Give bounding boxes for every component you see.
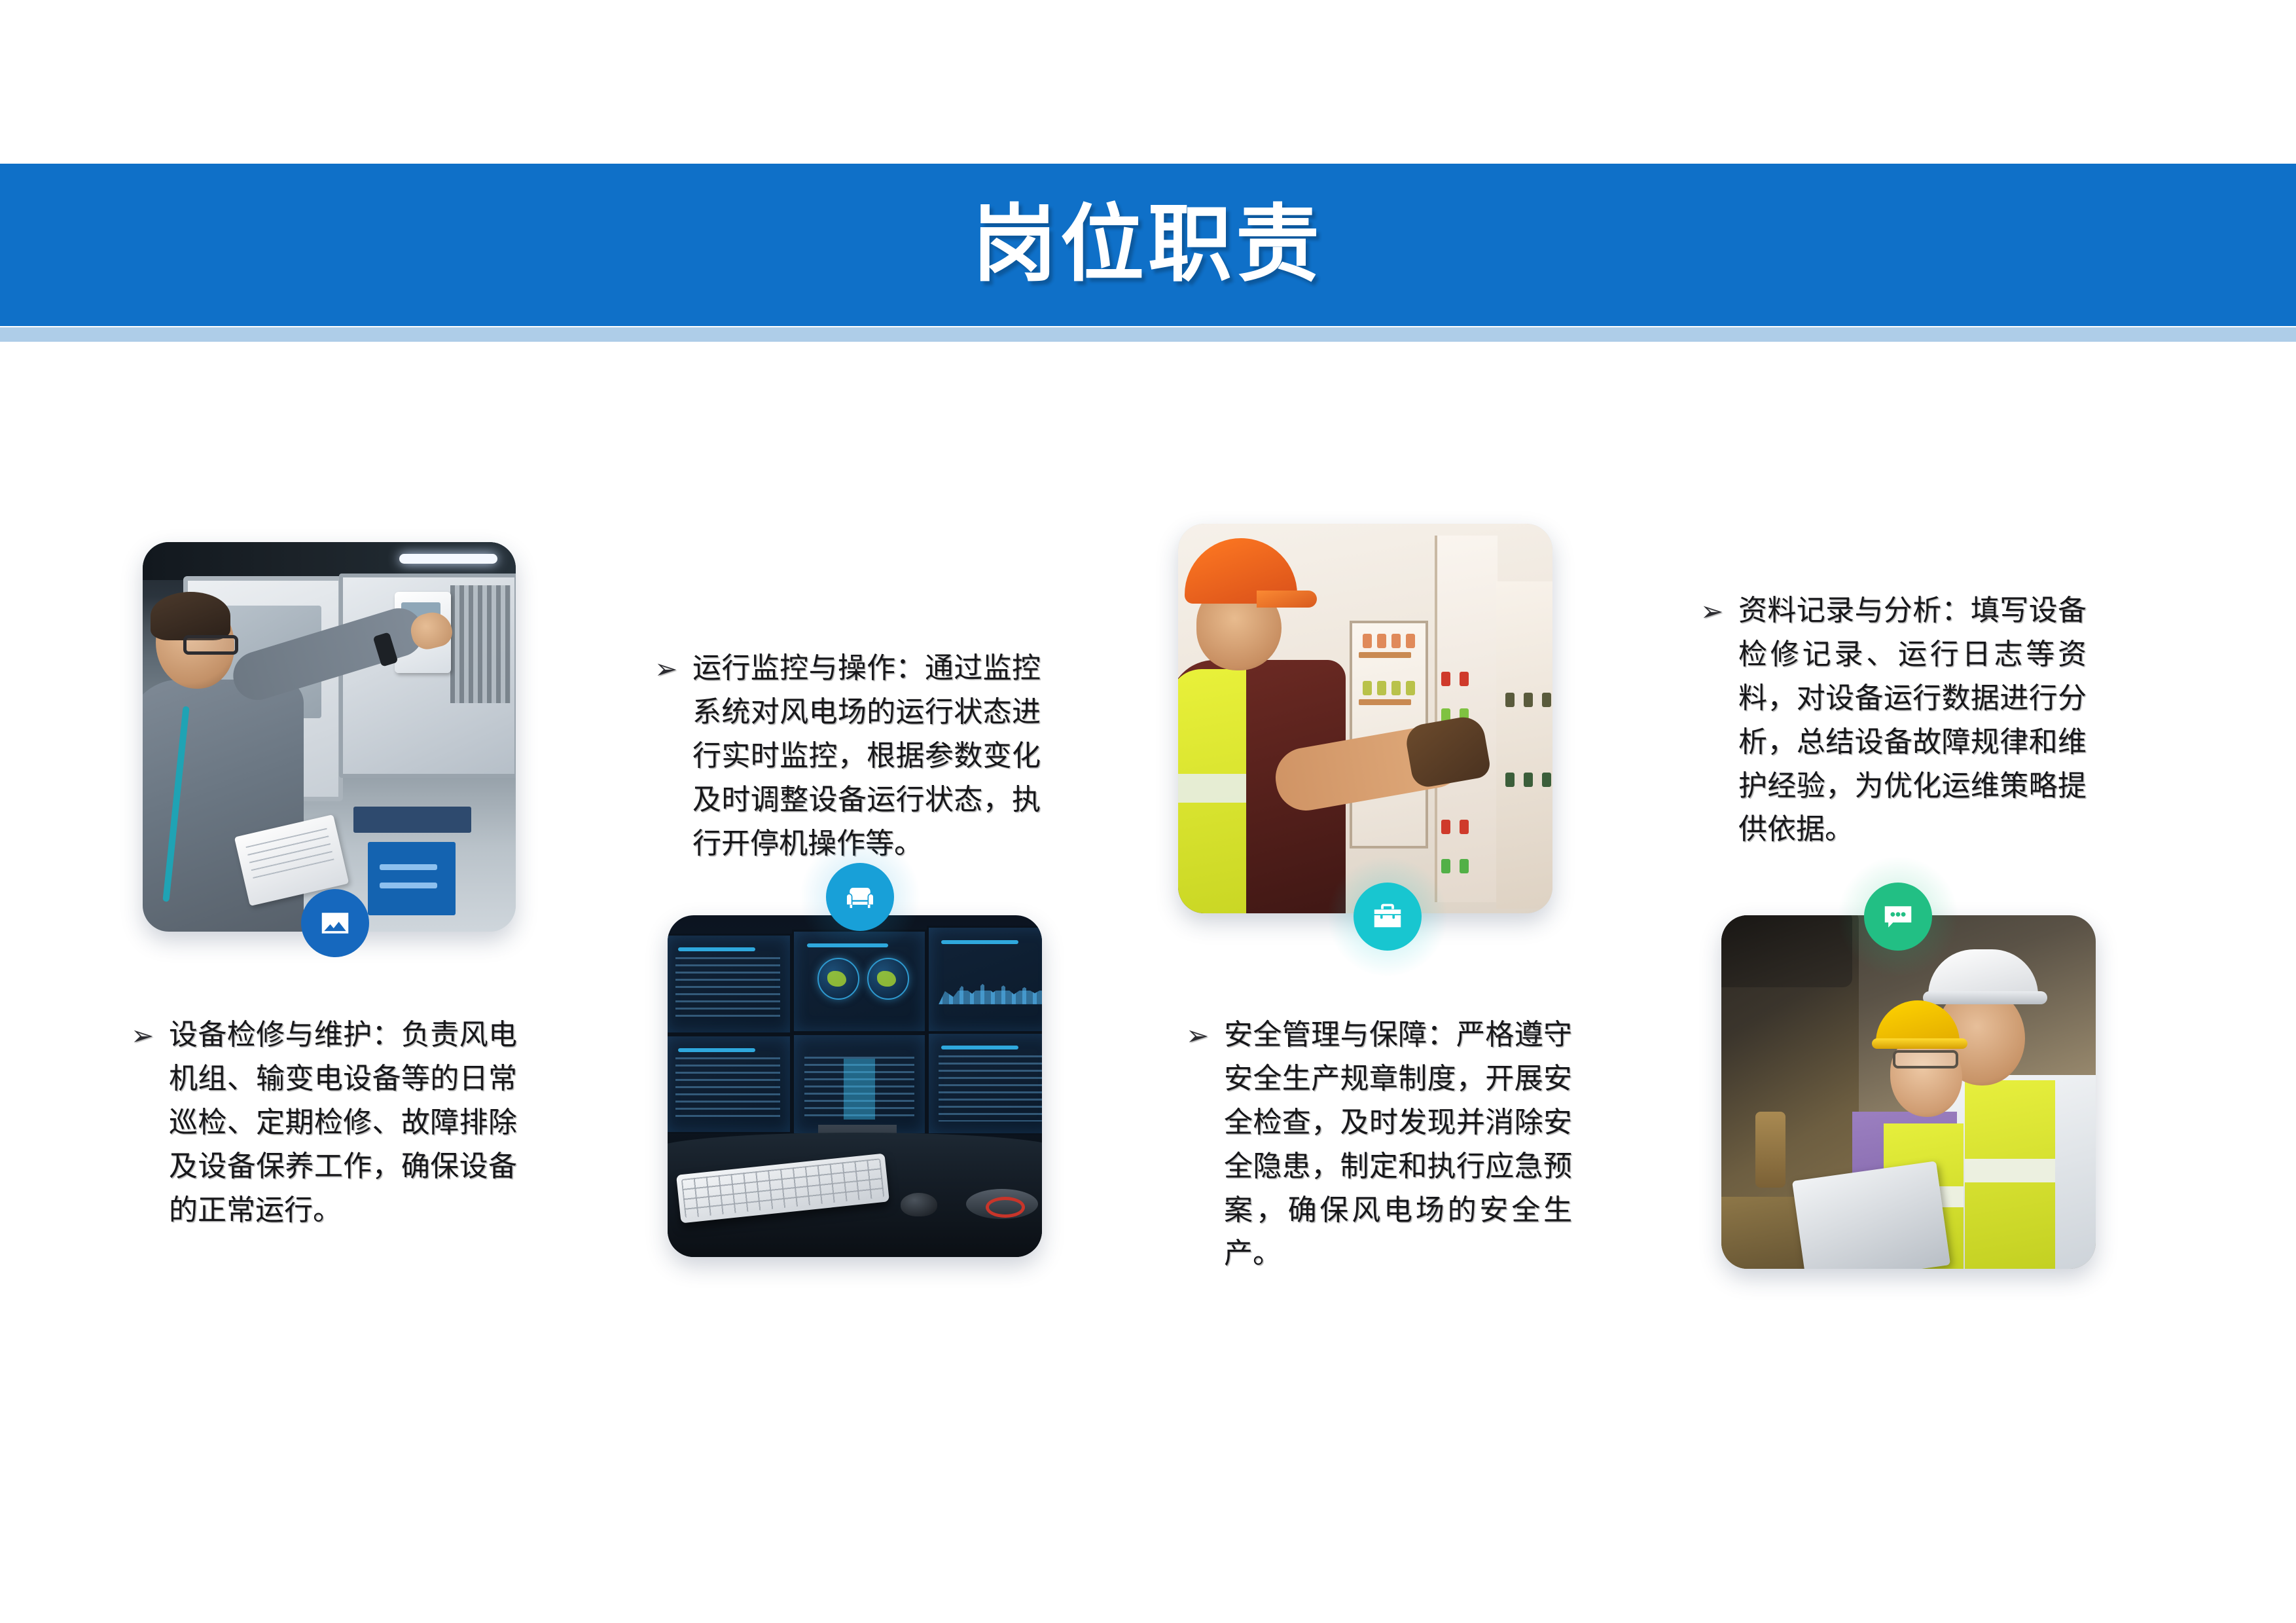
photo-card-records-analysis (1721, 915, 2096, 1269)
photo-card-safety-management (1178, 524, 1552, 913)
armchair-icon (842, 879, 878, 915)
photo-content-equipment-maintenance (143, 542, 516, 932)
arrow-bullet-icon: ➢ (655, 648, 685, 690)
responsibility-body-safety-management: 安全管理与保障：严格遵守安全生产规章制度，开展安全检查，及时发现并消除安全隐患，… (1224, 1013, 1572, 1276)
responsibility-body-equipment-maintenance: 设备检修与维护：负责风电机组、输变电设备等的日常巡检、定期检修、故障排除及设备保… (169, 1013, 517, 1232)
header-banner: 岗位职责 (0, 164, 2296, 326)
responsibility-body-operation-monitoring: 运行监控与操作：通过监控系统对风电场的运行状态进行实时监控，根据参数变化及时调整… (692, 647, 1041, 866)
image-photo-icon (317, 905, 353, 941)
photo-content-records-analysis (1721, 915, 2096, 1269)
chat-bubble-icon (1880, 899, 1916, 934)
photo-content-safety-management (1178, 524, 1552, 913)
badge-safety-management[interactable] (1354, 883, 1422, 951)
photo-content-operation-monitoring (668, 915, 1042, 1257)
arrow-bullet-icon: ➢ (131, 1015, 161, 1057)
responsibility-text-records-analysis: ➢ 资料记录与分析：填写设备检修记录、运行日志等资料，对设备运行数据进行分析，总… (1700, 589, 2087, 852)
header-accent-strip (0, 327, 2296, 342)
responsibility-text-safety-management: ➢ 安全管理与保障：严格遵守安全生产规章制度，开展安全检查，及时发现并消除安全隐… (1186, 1013, 1572, 1276)
photo-card-equipment-maintenance (143, 542, 516, 932)
page-title: 岗位职责 (973, 203, 1323, 287)
photo-card-operation-monitoring (668, 915, 1042, 1257)
badge-operation-monitoring[interactable] (826, 863, 894, 931)
badge-equipment-maintenance[interactable] (301, 889, 369, 957)
toolbox-icon (1370, 899, 1405, 934)
slide-stage: 岗位职责 (0, 0, 2296, 1623)
responsibility-text-equipment-maintenance: ➢ 设备检修与维护：负责风电机组、输变电设备等的日常巡检、定期检修、故障排除及设… (131, 1013, 517, 1232)
badge-records-analysis[interactable] (1864, 883, 1932, 951)
responsibility-body-records-analysis: 资料记录与分析：填写设备检修记录、运行日志等资料，对设备运行数据进行分析，总结设… (1738, 589, 2087, 852)
responsibility-text-operation-monitoring: ➢ 运行监控与操作：通过监控系统对风电场的运行状态进行实时监控，根据参数变化及时… (655, 647, 1041, 866)
arrow-bullet-icon: ➢ (1186, 1015, 1216, 1057)
arrow-bullet-icon: ➢ (1700, 591, 1731, 632)
